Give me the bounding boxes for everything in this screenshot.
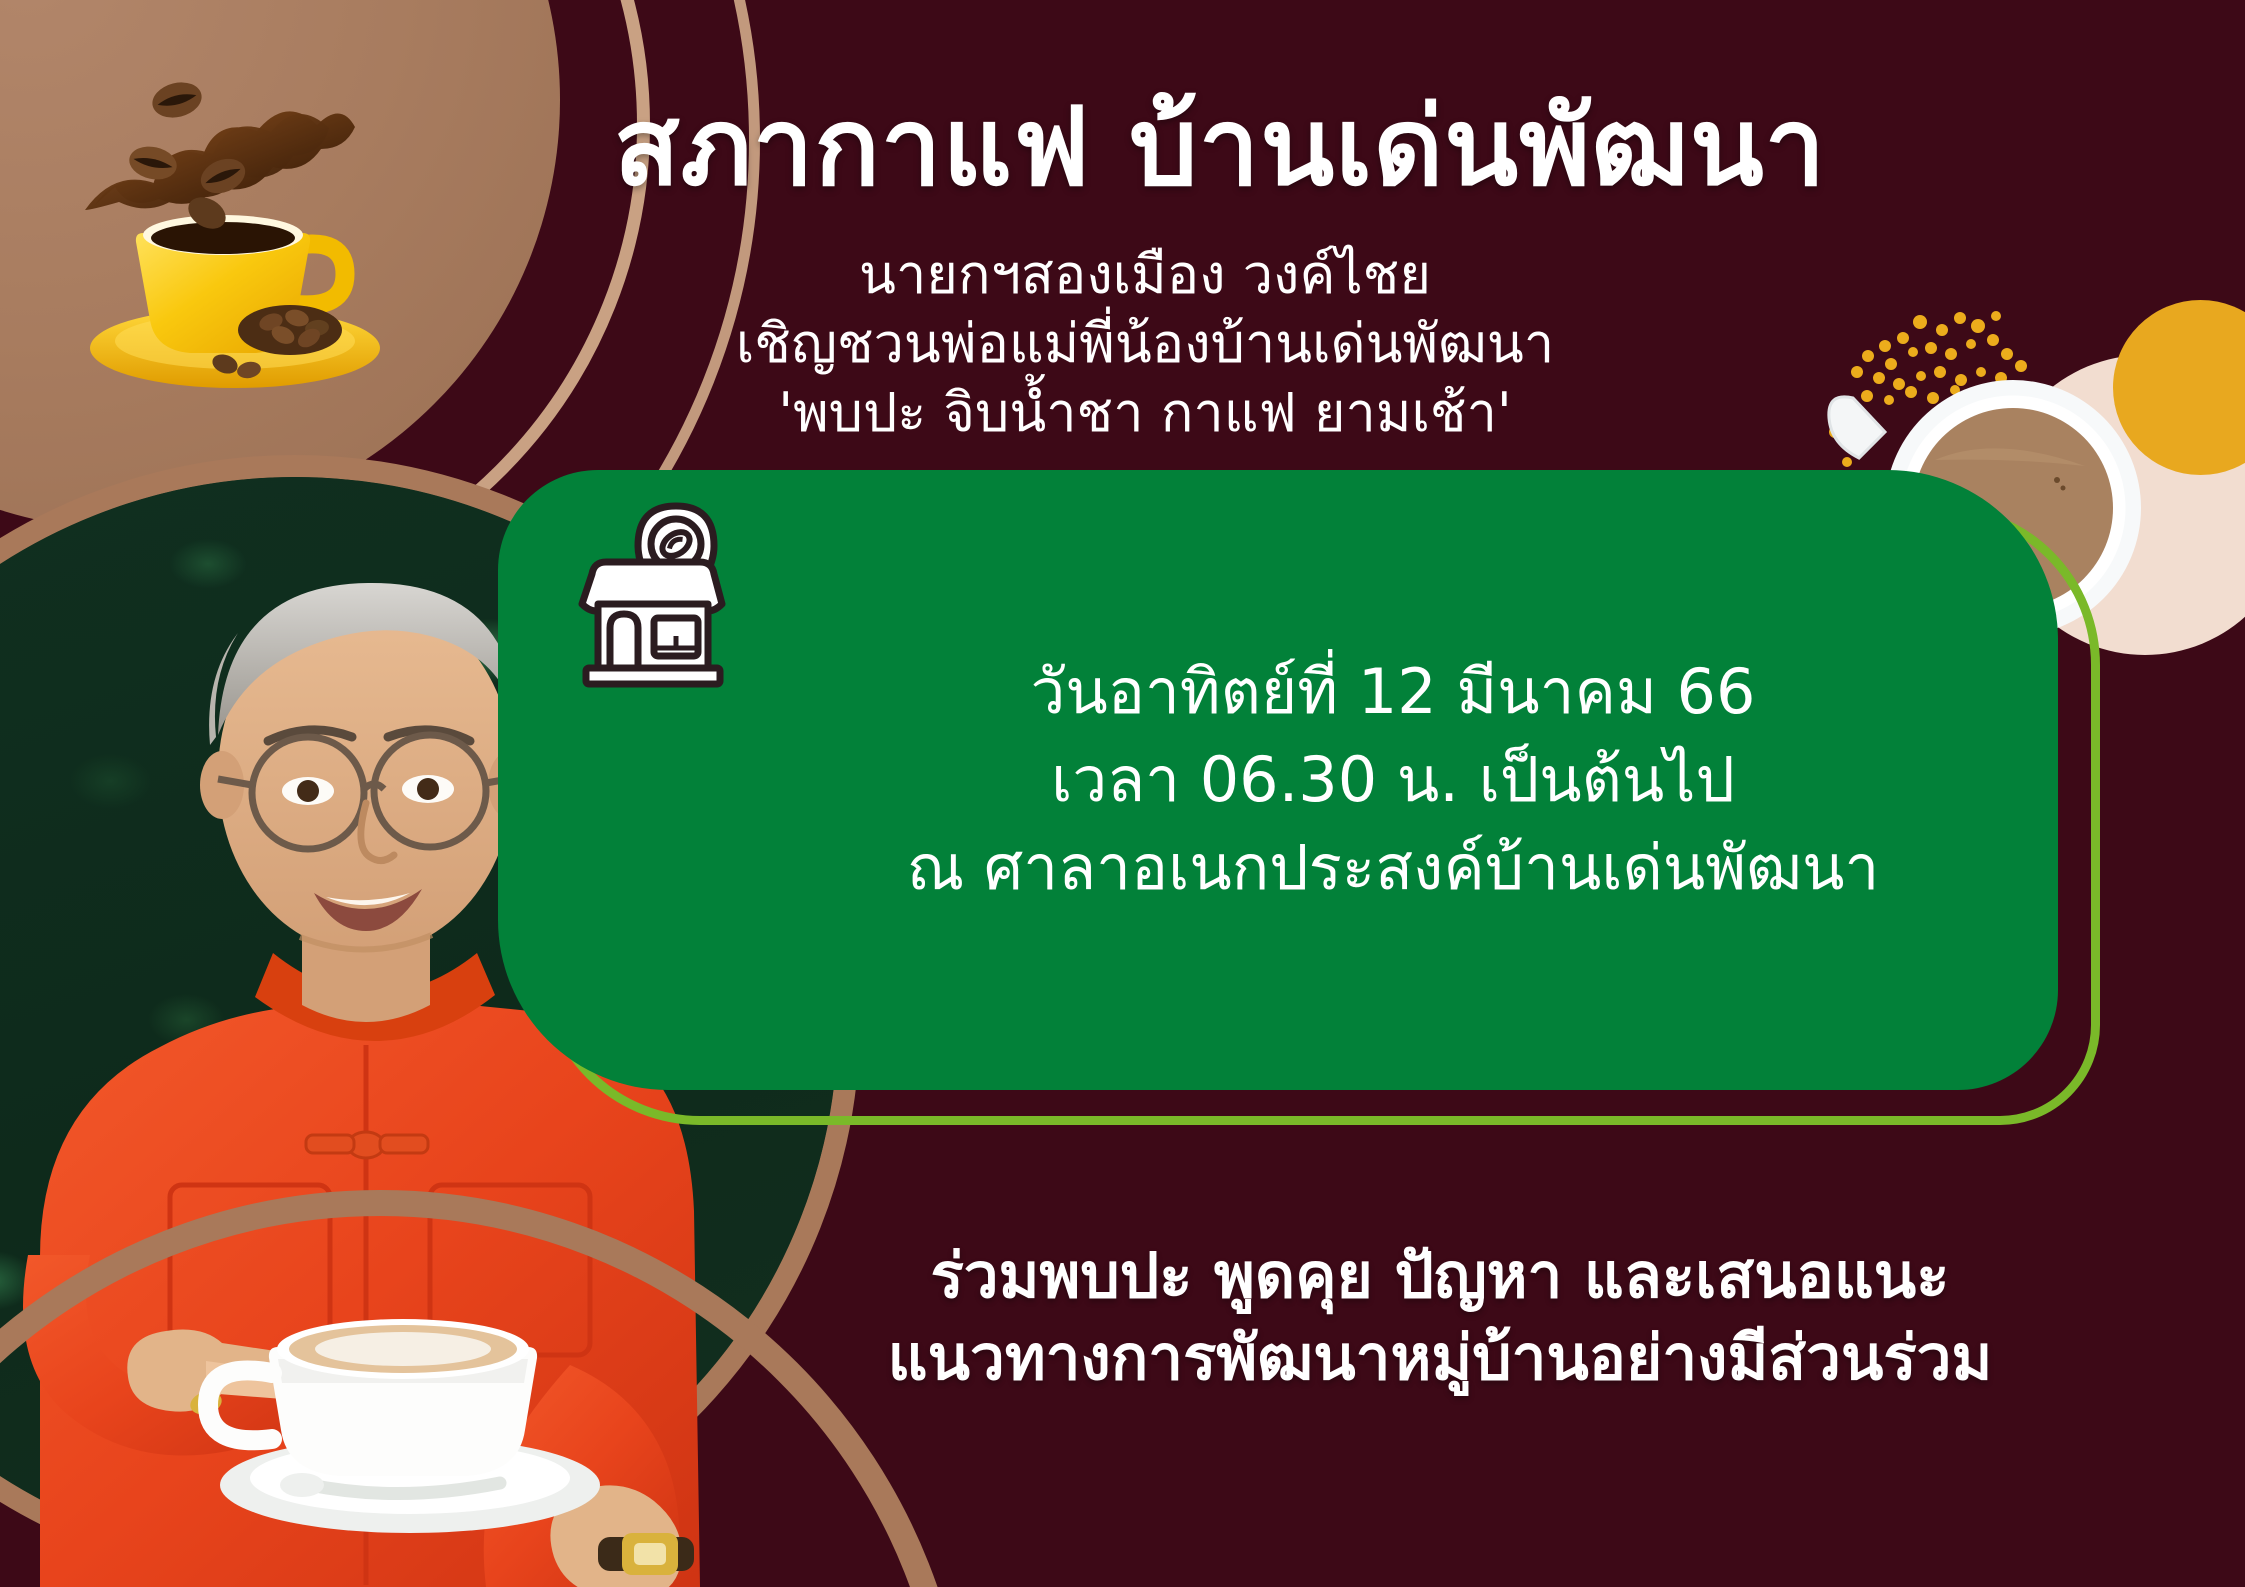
subtitle-line-2: เชิญชวนพ่อแม่พี่น้องบ้านเด่นพัฒนา (420, 309, 1870, 378)
poster-subtitle: นายกฯสองเมือง วงค์ไชย เชิญชวนพ่อแม่พี่น้… (420, 240, 1870, 447)
event-place-line: ณ ศาลาอเนกประสงค์บ้านเด่นพัฒนา (748, 824, 2038, 912)
subtitle-line-3: 'พบปะ จิบน้ำชา กาแฟ ยามเช้า' (420, 378, 1870, 447)
poster-canvas: สภากาแฟ บ้านเด่นพัฒนา นายกฯสองเมือง วงค์… (0, 0, 2245, 1587)
event-panel: วันอาทิตย์ที่ 12 มีนาคม 66 เวลา 06.30 น.… (498, 470, 2058, 1090)
event-time-line: เวลา 06.30 น. เป็นต้นไป (748, 736, 2038, 824)
coffee-shop-location-pin-icon (558, 498, 748, 698)
event-date-line: วันอาทิตย์ที่ 12 มีนาคม 66 (748, 648, 2038, 736)
poster-title: สภากาแฟ บ้านเด่นพัฒนา (370, 88, 2070, 209)
event-panel-text: วันอาทิตย์ที่ 12 มีนาคม 66 เวลา 06.30 น.… (748, 470, 2038, 1090)
footer-line-2: แนวทางการพัฒนาหมู่บ้านอย่างมีส่วนร่วม (700, 1317, 2180, 1399)
footer-line-1: ร่วมพบปะ พูดคุย ปัญหา และเสนอแนะ (700, 1235, 2180, 1317)
subtitle-line-1: นายกฯสองเมือง วงค์ไชย (420, 240, 1870, 309)
yellow-coffee-cup-icon (25, 30, 425, 430)
poster-footer: ร่วมพบปะ พูดคุย ปัญหา และเสนอแนะ แนวทางก… (700, 1235, 2180, 1399)
